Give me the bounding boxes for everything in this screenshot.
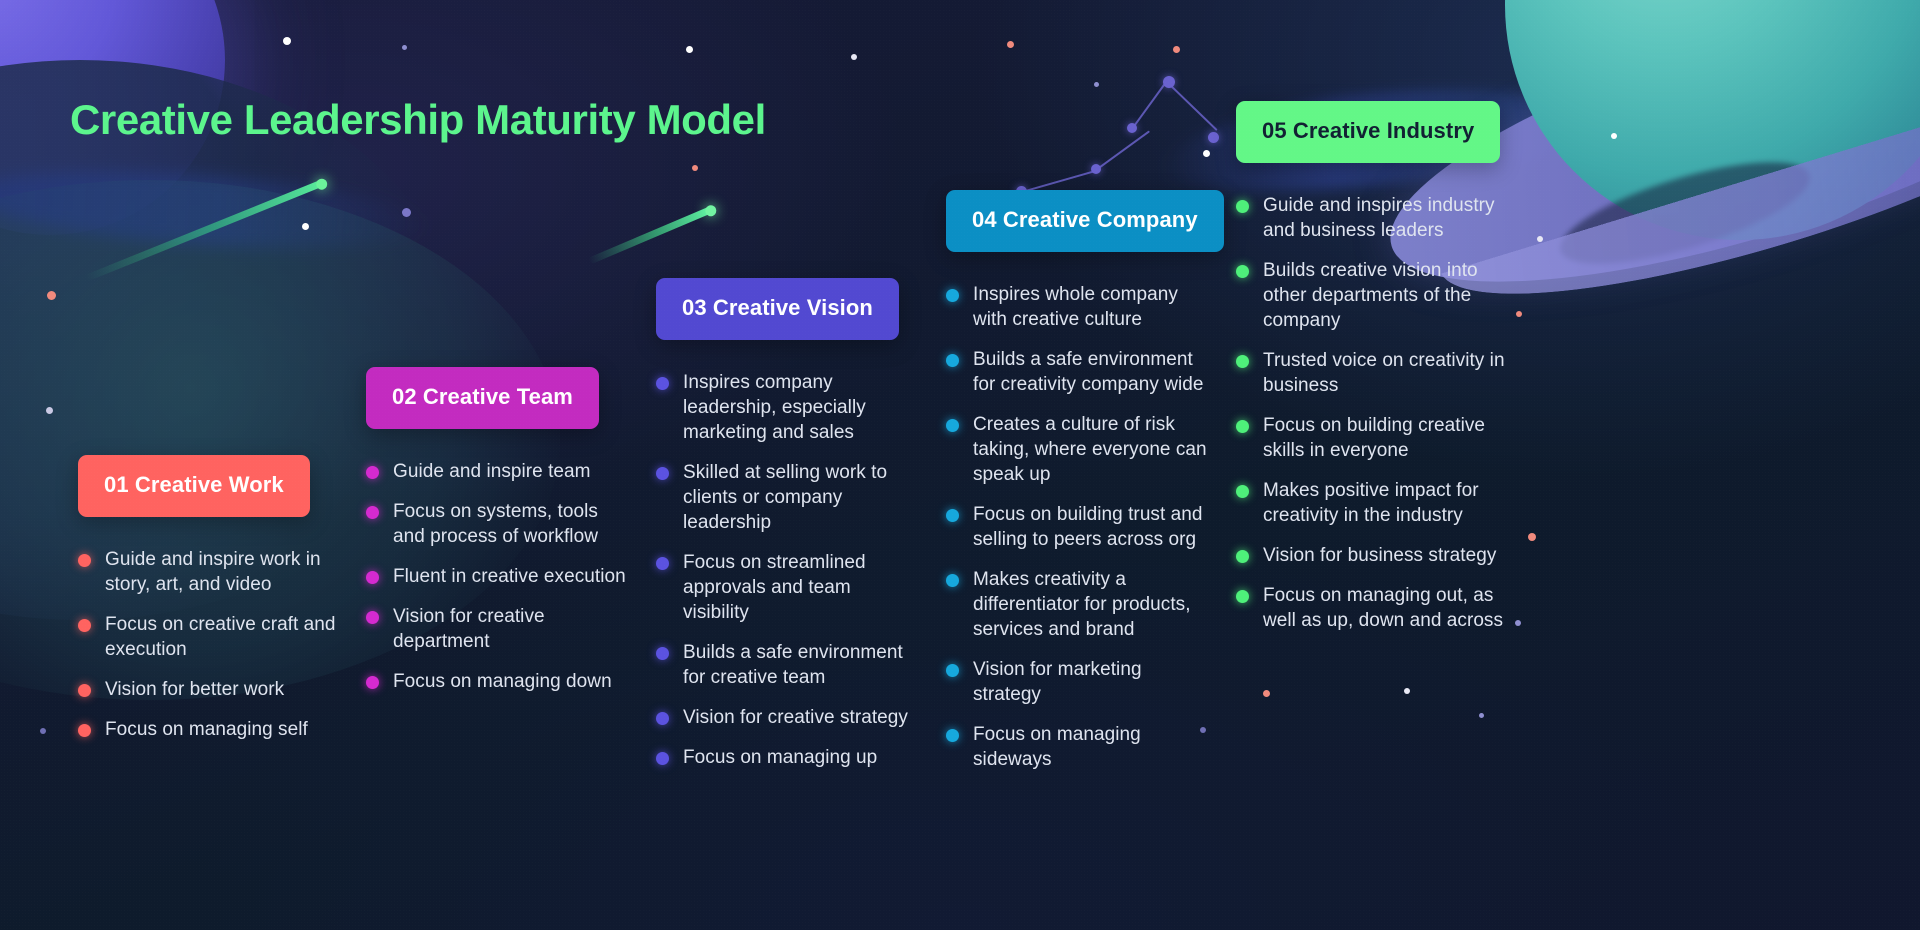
list-item: Focus on managing up xyxy=(656,745,918,770)
stage-item-list-04: Inspires whole company with creative cul… xyxy=(946,282,1210,772)
bullet-dot-icon xyxy=(1236,590,1249,603)
list-item-label: Vision for better work xyxy=(105,677,284,702)
list-item: Builds a safe environment for creative t… xyxy=(656,640,918,690)
list-item: Builds a safe environment for creativity… xyxy=(946,347,1210,397)
bullet-dot-icon xyxy=(366,571,379,584)
list-item-label: Focus on systems, tools and process of w… xyxy=(393,499,634,549)
list-item-label: Guide and inspire team xyxy=(393,459,591,484)
list-item-label: Inspires company leadership, especially … xyxy=(683,370,918,445)
list-item-label: Vision for marketing strategy xyxy=(973,657,1210,707)
bullet-dot-icon xyxy=(78,619,91,632)
bullet-dot-icon xyxy=(656,377,669,390)
list-item: Focus on building creative skills in eve… xyxy=(1236,413,1512,463)
list-item: Focus on managing out, as well as up, do… xyxy=(1236,583,1512,633)
bullet-dot-icon xyxy=(656,752,669,765)
bullet-dot-icon xyxy=(78,684,91,697)
list-item-label: Focus on building creative skills in eve… xyxy=(1263,413,1512,463)
list-item-label: Focus on managing out, as well as up, do… xyxy=(1263,583,1512,633)
stage-item-list-05: Guide and inspires industry and business… xyxy=(1236,193,1512,633)
list-item: Focus on systems, tools and process of w… xyxy=(366,499,634,549)
bullet-dot-icon xyxy=(946,509,959,522)
list-item-label: Focus on creative craft and execution xyxy=(105,612,343,662)
list-item: Focus on streamlined approvals and team … xyxy=(656,550,918,625)
bullet-dot-icon xyxy=(656,647,669,660)
list-item: Guide and inspire team xyxy=(366,459,634,484)
bullet-dot-icon xyxy=(1236,420,1249,433)
list-item: Makes positive impact for creativity in … xyxy=(1236,478,1512,528)
list-item-label: Focus on managing sideways xyxy=(973,722,1210,772)
list-item-label: Makes positive impact for creativity in … xyxy=(1263,478,1512,528)
list-item-label: Vision for creative department xyxy=(393,604,634,654)
bullet-dot-icon xyxy=(946,729,959,742)
bullet-dot-icon xyxy=(366,611,379,624)
bullet-dot-icon xyxy=(78,724,91,737)
bullet-dot-icon xyxy=(946,574,959,587)
list-item-label: Inspires whole company with creative cul… xyxy=(973,282,1210,332)
stage-column-03: 03 Creative Vision Inspires company lead… xyxy=(656,278,918,785)
list-item: Focus on creative craft and execution xyxy=(78,612,343,662)
space-background: Creative Leadership Maturity Model 01 Cr… xyxy=(0,0,1920,930)
stage-badge-03[interactable]: 03 Creative Vision xyxy=(656,278,899,340)
list-item: Vision for creative department xyxy=(366,604,634,654)
list-item: Makes creativity a differentiator for pr… xyxy=(946,567,1210,642)
list-item: Focus on managing self xyxy=(78,717,343,742)
list-item-label: Builds a safe environment for creativity… xyxy=(973,347,1210,397)
list-item: Fluent in creative execution xyxy=(366,564,634,589)
list-item: Vision for better work xyxy=(78,677,343,702)
list-item: Trusted voice on creativity in business xyxy=(1236,348,1512,398)
bullet-dot-icon xyxy=(366,466,379,479)
list-item-label: Builds a safe environment for creative t… xyxy=(683,640,918,690)
bullet-dot-icon xyxy=(366,506,379,519)
list-item: Skilled at selling work to clients or co… xyxy=(656,460,918,535)
stage-badge-04[interactable]: 04 Creative Company xyxy=(946,190,1224,252)
bullet-dot-icon xyxy=(1236,200,1249,213)
bullet-dot-icon xyxy=(946,289,959,302)
stage-item-list-01: Guide and inspire work in story, art, an… xyxy=(78,547,343,742)
list-item-label: Trusted voice on creativity in business xyxy=(1263,348,1512,398)
list-item-label: Focus on managing down xyxy=(393,669,612,694)
list-item-label: Fluent in creative execution xyxy=(393,564,626,589)
stage-badge-01[interactable]: 01 Creative Work xyxy=(78,455,310,517)
bullet-dot-icon xyxy=(78,554,91,567)
list-item-label: Creates a culture of risk taking, where … xyxy=(973,412,1210,487)
stage-column-01: 01 Creative Work Guide and inspire work … xyxy=(78,455,343,757)
stage-column-02: 02 Creative Team Guide and inspire team … xyxy=(366,367,634,709)
bullet-dot-icon xyxy=(1236,355,1249,368)
stage-badge-05[interactable]: 05 Creative Industry xyxy=(1236,101,1500,163)
list-item: Focus on managing down xyxy=(366,669,634,694)
bullet-dot-icon xyxy=(656,712,669,725)
list-item: Guide and inspire work in story, art, an… xyxy=(78,547,343,597)
list-item: Vision for creative strategy xyxy=(656,705,918,730)
list-item-label: Skilled at selling work to clients or co… xyxy=(683,460,918,535)
list-item-label: Focus on managing self xyxy=(105,717,308,742)
bullet-dot-icon xyxy=(946,664,959,677)
bullet-dot-icon xyxy=(656,467,669,480)
list-item: Inspires whole company with creative cul… xyxy=(946,282,1210,332)
stage-item-list-02: Guide and inspire team Focus on systems,… xyxy=(366,459,634,694)
list-item: Creates a culture of risk taking, where … xyxy=(946,412,1210,487)
list-item-label: Vision for creative strategy xyxy=(683,705,908,730)
list-item: Builds creative vision into other depart… xyxy=(1236,258,1512,333)
list-item: Vision for marketing strategy xyxy=(946,657,1210,707)
bullet-dot-icon xyxy=(946,419,959,432)
stage-item-list-03: Inspires company leadership, especially … xyxy=(656,370,918,770)
list-item: Inspires company leadership, especially … xyxy=(656,370,918,445)
list-item-label: Makes creativity a differentiator for pr… xyxy=(973,567,1210,642)
list-item: Focus on managing sideways xyxy=(946,722,1210,772)
bullet-dot-icon xyxy=(946,354,959,367)
stage-column-04: 04 Creative Company Inspires whole compa… xyxy=(946,190,1224,787)
bullet-dot-icon xyxy=(366,676,379,689)
bullet-dot-icon xyxy=(656,557,669,570)
maturity-stages: 01 Creative Work Guide and inspire work … xyxy=(0,0,1920,930)
list-item-label: Guide and inspires industry and business… xyxy=(1263,193,1512,243)
list-item-label: Focus on streamlined approvals and team … xyxy=(683,550,918,625)
list-item-label: Builds creative vision into other depart… xyxy=(1263,258,1512,333)
bullet-dot-icon xyxy=(1236,265,1249,278)
stage-badge-02[interactable]: 02 Creative Team xyxy=(366,367,599,429)
list-item-label: Guide and inspire work in story, art, an… xyxy=(105,547,343,597)
list-item-label: Vision for business strategy xyxy=(1263,543,1496,568)
list-item: Focus on building trust and selling to p… xyxy=(946,502,1210,552)
bullet-dot-icon xyxy=(1236,550,1249,563)
bullet-dot-icon xyxy=(1236,485,1249,498)
list-item-label: Focus on building trust and selling to p… xyxy=(973,502,1210,552)
list-item: Guide and inspires industry and business… xyxy=(1236,193,1512,243)
stage-column-05: 05 Creative Industry Guide and inspires … xyxy=(1236,101,1512,648)
list-item-label: Focus on managing up xyxy=(683,745,877,770)
list-item: Vision for business strategy xyxy=(1236,543,1512,568)
